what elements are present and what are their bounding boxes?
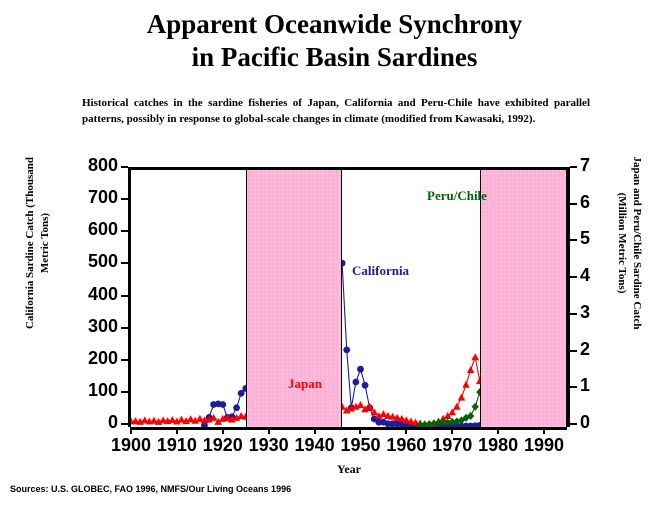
x-tick bbox=[130, 427, 132, 434]
y-tick-right bbox=[570, 166, 577, 168]
y-tick-left bbox=[121, 295, 128, 297]
y-axis-label-right: Japan and Peru/Chile Sardine Catch (Mill… bbox=[614, 143, 644, 343]
series-label-japan: Japan bbox=[288, 376, 322, 392]
title-line-1: Apparent Oceanwide Synchrony bbox=[0, 8, 669, 41]
sources-note: Sources: U.S. GLOBEC, FAO 1996, NMFS/Our… bbox=[10, 484, 291, 494]
y-tick-left bbox=[121, 327, 128, 329]
plot-area: California Japan Peru/Chile bbox=[131, 167, 567, 430]
y-tick-label-left: 500 bbox=[70, 251, 118, 272]
y-tick-right bbox=[570, 350, 577, 352]
data-point bbox=[467, 366, 475, 373]
y-tick-right bbox=[570, 276, 577, 278]
y-tick-label-left: 100 bbox=[70, 380, 118, 401]
y-axis-label-left: California Sardine Catch (Thousand Metri… bbox=[23, 143, 53, 343]
data-point bbox=[458, 394, 466, 401]
series-label-peruchile: Peru/Chile bbox=[427, 188, 487, 204]
y-tick-label-left: 800 bbox=[70, 155, 118, 176]
x-tick bbox=[222, 427, 224, 434]
y-tick-left bbox=[121, 423, 128, 425]
y-tick-label-right: 0 bbox=[580, 412, 620, 433]
x-tick bbox=[176, 427, 178, 434]
x-tick bbox=[543, 427, 545, 434]
y-tick-right bbox=[570, 386, 577, 388]
y-tick-label-left: 200 bbox=[70, 348, 118, 369]
y-tick-left bbox=[121, 198, 128, 200]
y-tick-label-right: 1 bbox=[580, 375, 620, 396]
chart-figure: California Japan Peru/Chile 010020030040… bbox=[0, 150, 669, 460]
data-point bbox=[352, 379, 359, 386]
x-axis-label: Year bbox=[131, 462, 567, 477]
data-point bbox=[357, 401, 365, 408]
axis-spine-left bbox=[128, 167, 131, 427]
x-tick bbox=[359, 427, 361, 434]
x-tick bbox=[405, 427, 407, 434]
x-tick bbox=[451, 427, 453, 434]
y-axis-label-left-text: California Sardine Catch (Thousand Metri… bbox=[24, 157, 51, 329]
y-tick-label-left: 300 bbox=[70, 316, 118, 337]
data-point bbox=[357, 366, 364, 373]
y-tick-left bbox=[121, 230, 128, 232]
page-title: Apparent Oceanwide Synchrony in Pacific … bbox=[0, 8, 669, 74]
data-point bbox=[453, 403, 461, 410]
y-tick-label-left: 0 bbox=[70, 412, 118, 433]
y-tick-label-left: 700 bbox=[70, 187, 118, 208]
y-tick-label-left: 400 bbox=[70, 284, 118, 305]
y-axis-label-right-text: Japan and Peru/Chile Sardine Catch (Mill… bbox=[616, 157, 643, 330]
y-tick-label-left: 600 bbox=[70, 219, 118, 240]
y-tick-right bbox=[570, 423, 577, 425]
shaded-region-2 bbox=[480, 170, 567, 427]
data-point bbox=[219, 401, 226, 408]
y-tick-left bbox=[121, 166, 128, 168]
y-tick-left bbox=[121, 359, 128, 361]
y-tick-right bbox=[570, 313, 577, 315]
y-tick-right bbox=[570, 203, 577, 205]
x-tick bbox=[497, 427, 499, 434]
data-point bbox=[362, 382, 369, 389]
x-tick bbox=[314, 427, 316, 434]
figure-caption: Historical catches in the sardine fisher… bbox=[82, 95, 590, 127]
data-point bbox=[472, 403, 479, 411]
y-tick-left bbox=[121, 262, 128, 264]
data-point bbox=[462, 381, 470, 388]
x-tick-label: 1990 bbox=[514, 435, 574, 456]
x-tick bbox=[268, 427, 270, 434]
y-tick-right bbox=[570, 239, 577, 241]
series-label-california: California bbox=[352, 263, 409, 279]
title-line-2: in Pacific Basin Sardines bbox=[0, 41, 669, 74]
data-point bbox=[471, 353, 479, 360]
data-point bbox=[233, 404, 240, 411]
data-point bbox=[343, 347, 350, 354]
y-tick-left bbox=[121, 391, 128, 393]
